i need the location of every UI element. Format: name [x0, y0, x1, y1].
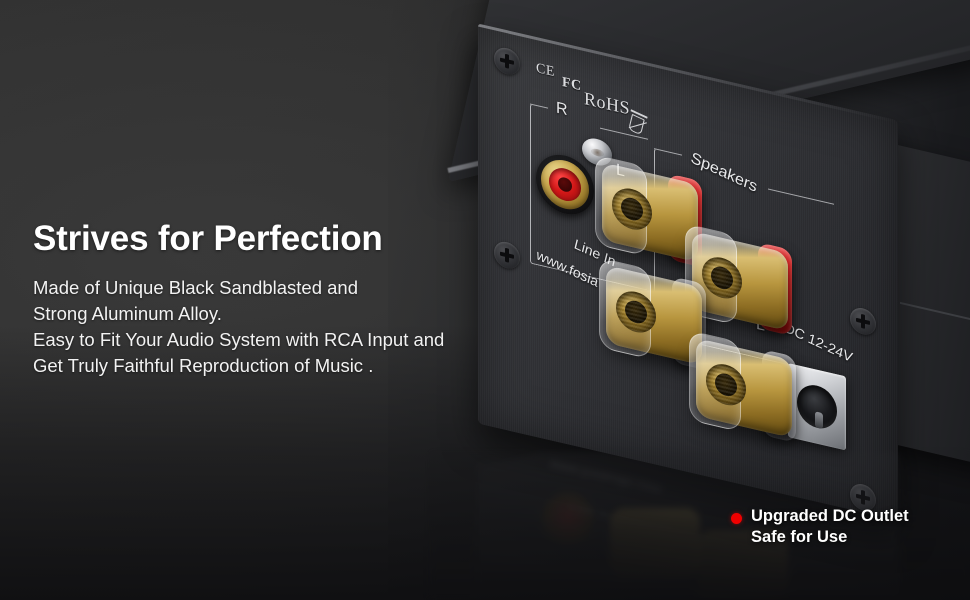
product-feature-banner: Strives for Perfection Made of Unique Bl…	[0, 0, 970, 600]
dc-outlet-callout: Upgraded DC Outlet Safe for Use	[731, 506, 963, 548]
panel-content: CE FC RoHS R L Line In	[478, 24, 898, 521]
speaker-post-right-negative	[606, 265, 702, 365]
dc-jack-opening	[797, 381, 837, 432]
callout-line-2: Safe for Use	[751, 527, 909, 548]
dc-barrel-jack	[788, 363, 846, 450]
dc-jack-center-pin	[815, 411, 823, 429]
rca-right-label: R	[556, 100, 568, 121]
callout-text: Upgraded DC Outlet Safe for Use	[751, 506, 909, 548]
panel-screw-top-left-icon	[494, 45, 520, 77]
speaker-post-right-positive	[602, 162, 698, 262]
rohs-mark: RoHS	[584, 88, 630, 120]
speaker-post-left-negative	[696, 338, 792, 438]
speaker-post-left-positive	[692, 231, 788, 331]
fcc-mark: FC	[562, 75, 582, 96]
ce-mark: CE	[536, 61, 555, 81]
panel-screw-bottom-left-icon	[494, 239, 520, 271]
amplifier-rear-panel: CE FC RoHS R L Line In	[478, 24, 898, 521]
bullet-dot-icon	[731, 513, 742, 524]
panel-screw-top-right-icon	[850, 305, 876, 337]
callout-line-1: Upgraded DC Outlet	[751, 506, 909, 527]
